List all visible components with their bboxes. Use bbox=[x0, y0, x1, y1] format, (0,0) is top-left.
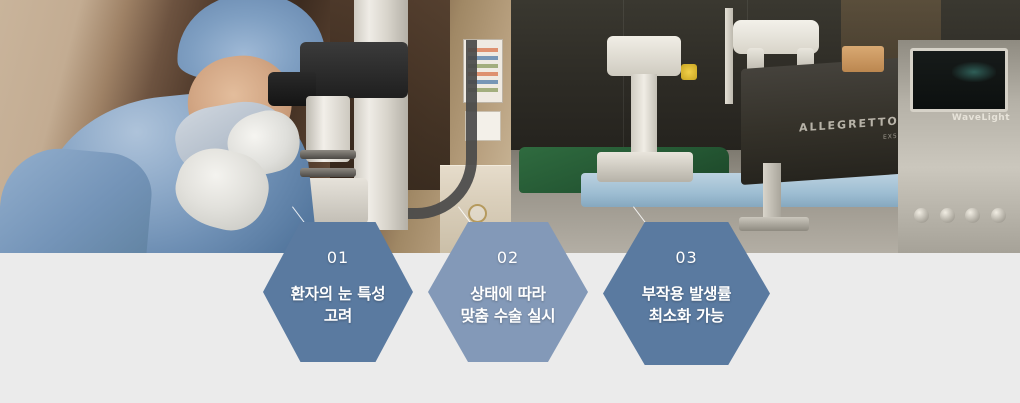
monitor-glow bbox=[952, 62, 996, 82]
control-knob-icon[interactable] bbox=[914, 208, 929, 223]
photo-operating-room: ALLEGRETTO EX500 WaveLight bbox=[511, 0, 1020, 253]
step-2-number: 02 bbox=[497, 250, 519, 266]
page-root: ALLEGRETTO EX500 WaveLight 01 환자의 눈 특성 고… bbox=[0, 0, 1020, 403]
photo-band: ALLEGRETTO EX500 WaveLight bbox=[0, 0, 1020, 253]
microscope-lower-ring bbox=[300, 168, 356, 177]
orange-equipment-box bbox=[842, 46, 884, 72]
laser-stand bbox=[763, 163, 781, 223]
control-knob-row bbox=[914, 207, 1006, 223]
control-knob-icon[interactable] bbox=[991, 208, 1006, 223]
secondary-device-head bbox=[607, 36, 681, 76]
microscope-support-arm bbox=[725, 8, 733, 104]
microscope-head bbox=[300, 42, 408, 98]
microscope-focus-ring bbox=[300, 150, 356, 159]
panel-brand-label: WaveLight bbox=[952, 113, 1010, 123]
photo-surgeon-slit-lamp bbox=[0, 0, 511, 253]
step-2-text: 상태에 따라 맞춤 수술 실시 bbox=[461, 283, 556, 327]
step-1-number: 01 bbox=[327, 250, 349, 266]
step-1-text: 환자의 눈 특성 고려 bbox=[291, 283, 386, 327]
surgeon-shoulder bbox=[0, 144, 155, 253]
gooseneck-lamp-arm bbox=[408, 40, 477, 219]
cabinet-knob-icon bbox=[468, 204, 487, 223]
laser-base bbox=[739, 217, 809, 231]
step-3-text: 부작용 발생률 최소화 가능 bbox=[642, 283, 732, 327]
control-knob-icon[interactable] bbox=[965, 208, 980, 223]
yellow-indicator-icon bbox=[681, 64, 697, 80]
control-knob-icon[interactable] bbox=[940, 208, 955, 223]
step-3-number: 03 bbox=[675, 250, 697, 266]
secondary-device-base bbox=[597, 152, 693, 182]
